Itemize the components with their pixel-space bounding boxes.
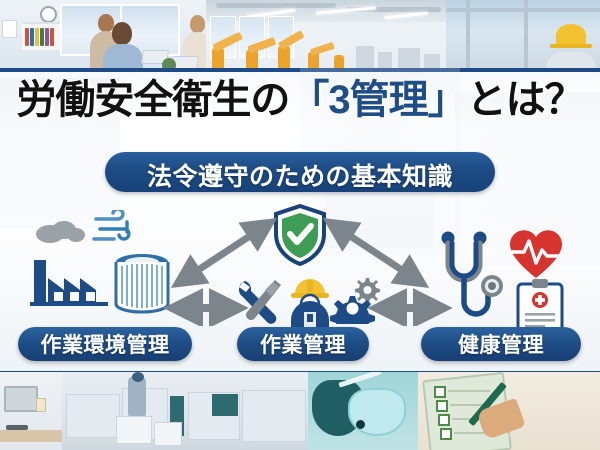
pill-label: 作業管理 — [260, 329, 346, 359]
pill-work-environment-management[interactable]: 作業環境管理 — [18, 327, 192, 361]
yellow-helmet-icon — [556, 24, 586, 46]
subtitle-banner: 法令遵守のための基本知識 — [105, 152, 495, 192]
office-desk-photo — [0, 372, 62, 450]
page-title: 労働安全衛生の「3管理」とは？ — [0, 80, 600, 120]
robotic-factory-photo — [206, 0, 446, 72]
double-arrow-diagonal-right — [338, 228, 414, 278]
keyboard — [6, 425, 28, 430]
desk-surface — [0, 430, 62, 442]
factory-floor-photo — [62, 372, 308, 450]
title-lead: 労働安全衛生の — [16, 78, 289, 122]
double-arrow-diagonal-left — [186, 228, 262, 278]
title-accent: 「3管理」 — [289, 78, 466, 122]
subtitle-text: 法令遵守のための基本知識 — [105, 157, 495, 193]
bookshelf — [22, 22, 60, 50]
monitor — [4, 386, 38, 412]
pill-health-management[interactable]: 健康管理 — [421, 327, 581, 361]
wall-art — [2, 20, 17, 38]
pill-label: 作業環境管理 — [41, 329, 170, 359]
construction-worker-photo — [446, 0, 600, 72]
pill-label: 健康管理 — [458, 329, 544, 359]
office-meeting-photo — [0, 0, 206, 72]
ppe-masks-photo — [308, 372, 418, 450]
pill-work-management[interactable]: 作業管理 — [237, 327, 369, 361]
checklist-clipboard-photo — [418, 372, 600, 450]
wall-clock-icon — [40, 6, 57, 23]
arrow-layer — [0, 196, 600, 326]
bottom-photo-band — [0, 372, 600, 450]
title-tail: とは？ — [467, 78, 584, 122]
poster-root: 労働安全衛生の「3管理」とは？ 法令遵守のための基本知識 — [0, 0, 600, 450]
top-photo-band — [0, 0, 600, 72]
